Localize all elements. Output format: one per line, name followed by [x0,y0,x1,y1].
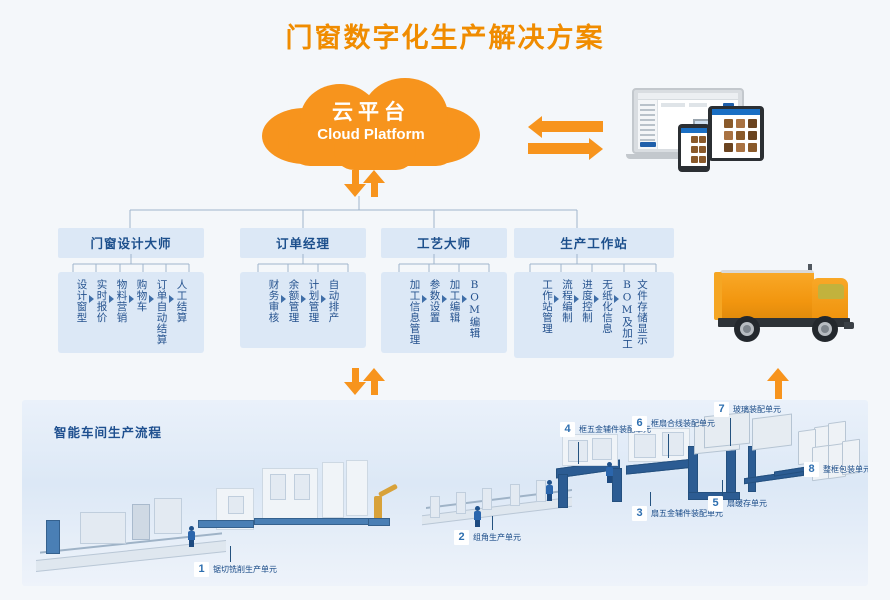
truck-cargo-box [720,270,814,320]
robot-base [368,518,390,526]
worker-figure [474,506,481,526]
truck-bumper [844,322,854,329]
truck-window [818,284,844,299]
module-item[interactable]: 人工结算 [174,279,189,323]
module-branch-connectors [240,254,366,274]
worker-figure [606,462,613,482]
label-leader-line [730,418,731,446]
unit-number: 4 [560,422,575,437]
factory-title: 智能车间生产流程 [54,422,162,441]
unit-text: 组角生产单元 [473,532,521,543]
tablet-device[interactable] [708,106,764,161]
smart-workshop-panel: 智能车间生产流程 [22,400,868,586]
unit-text: 整框包装单元 [823,464,868,475]
label-leader-line [722,480,723,496]
milling-door [270,474,286,500]
laptop-action-button [640,142,656,147]
module-item[interactable]: 实时报价 [94,279,109,323]
arrow-up-icon [363,368,385,381]
phone-device[interactable] [678,124,710,172]
unit-label-5[interactable]: 5 扇缓存单元 [708,496,767,511]
module-branch-connectors [381,254,507,274]
delivery-truck [712,258,860,354]
module-item[interactable]: 订单自动结算 [154,279,169,345]
conveyor-line [422,497,572,525]
bidirectional-arrows-devices [528,112,618,160]
module-item[interactable]: 加工信息管理 [407,279,422,345]
unit-number: 1 [194,562,209,577]
unit-label-7[interactable]: 7 玻璃装配单元 [714,402,781,417]
saw-machine [46,520,60,554]
unit-text: 锯切铣削生产单元 [213,564,277,575]
devices-cluster[interactable] [632,88,780,164]
profile-rack [322,462,344,518]
profile-rack [346,460,368,516]
robot-arm-upper [378,484,398,498]
arrow-left-shaft [541,121,603,132]
assembly-post [558,474,568,508]
tablet-appbar [712,109,760,115]
module-process-master[interactable]: 工艺大师 加工信息管理 参数设置 加工编辑 BOM编辑 [381,228,507,258]
unit-text: 扇缓存单元 [727,498,767,509]
label-leader-line [230,546,231,562]
truck-tire [734,316,760,342]
module-item[interactable]: 加工编辑 [447,279,462,323]
corner-crimper [482,488,492,510]
module-order-manager[interactable]: 订单经理 财务审核 余额管理 计划管理 自动排产 [240,228,366,258]
cloud-platform-text: 云平台 Cloud Platform [262,98,480,145]
truck-rear-door [714,272,722,320]
hardware-bin [592,438,612,460]
module-item[interactable]: 参数设置 [427,279,442,323]
page-title: 门窗数字化生产解决方案 [0,16,890,55]
label-leader-line [650,492,651,506]
module-item[interactable]: 流程编制 [559,279,574,323]
profile-stack [132,504,150,540]
cnc-panel [228,496,244,514]
unit-number: 8 [804,462,819,477]
label-leader-line [492,516,493,530]
unit-label-1[interactable]: 1 锯切铣削生产单元 [194,562,277,577]
label-leader-line [668,434,669,458]
phone-appbar [681,128,707,133]
unit-number: 2 [454,530,469,545]
corner-crimper [536,480,546,502]
unit-label-8[interactable]: 8 整框包装单元 [804,462,868,477]
module-items: 财务审核 余额管理 计划管理 自动排产 [240,272,366,348]
worker-figure [546,480,553,500]
glass-station-post [748,446,756,492]
module-item[interactable]: 自动排产 [326,279,341,323]
label-leader-line [578,442,579,464]
transfer-unit [154,498,182,534]
unit-text: 框扇合线装配单元 [651,418,715,429]
laptop-sidebar [638,100,658,149]
unit-number: 5 [708,496,723,511]
corner-crimper [430,496,440,518]
cloud-title-en: Cloud Platform [262,125,480,145]
module-items: 设计窗型 实时报价 物料营销 购物车 订单自动结算 人工结算 [58,272,204,353]
truck-tire [812,316,838,342]
frame-bin [662,432,684,456]
module-design-master[interactable]: 门窗设计大师 设计窗型 实时报价 物料营销 [58,228,204,258]
module-item[interactable]: 计划管理 [306,279,321,323]
module-items: 加工信息管理 参数设置 加工编辑 BOM编辑 [381,272,507,353]
arrow-up-icon [363,170,385,183]
module-item-file-storage[interactable]: 文件存储显示 [634,279,649,345]
unit-text: 玻璃装配单元 [733,404,781,415]
module-branch-connectors [514,254,674,274]
module-item[interactable]: 财务审核 [266,279,281,323]
solution-diagram: 门窗数字化生产解决方案 云平台 Cloud Platform [0,0,890,600]
unit-number: 7 [714,402,729,417]
module-branch-connectors [58,254,204,274]
module-item[interactable]: 物料营销 [114,279,129,323]
module-item[interactable]: 设计窗型 [74,279,89,323]
robot-arm [374,496,382,520]
module-item[interactable]: 无纸化信息 [599,279,614,334]
arrow-right-icon [589,138,603,160]
module-item[interactable]: BOM编辑 [467,279,482,339]
module-item[interactable]: 购物车 [134,279,149,312]
cloud-title-cn: 云平台 [262,98,480,125]
module-item[interactable]: 余额管理 [286,279,301,323]
module-item-bom[interactable]: BOM及加工 [619,279,634,350]
unit-number: 6 [632,416,647,431]
milling-door [294,474,310,500]
corner-crimper [456,492,466,514]
arrow-down-icon [344,382,366,395]
phone-screen [681,128,707,166]
module-item[interactable]: 工作站管理 [539,279,554,334]
tablet-screen [712,109,760,158]
corner-crimper [510,484,520,506]
arrow-left-icon [528,116,542,138]
unit-label-6[interactable]: 6 框扇合线装配单元 [632,416,715,431]
unit-label-2[interactable]: 2 组角生产单元 [454,530,521,545]
module-items: 工作站管理 流程编制 进度控制 无纸化信息 BOM及加工 文件存储显示 [514,272,674,358]
assembly-post [612,468,622,502]
frame-bin [634,434,656,458]
machine-base-rail [254,518,380,525]
module-production-workstation[interactable]: 生产工作站 工作站管理 流程编制 进度控制 无纸化 [514,228,674,258]
laptop-topbar [638,93,738,100]
module-item[interactable]: 进度控制 [579,279,594,323]
unit-number: 3 [632,506,647,521]
feed-unit [80,512,126,544]
cnc-base [198,520,254,528]
glass-panel [752,414,792,451]
worker-figure [188,526,195,546]
cloud-platform-node[interactable]: 云平台 Cloud Platform [262,78,480,168]
arrow-right-shaft [528,143,590,154]
arrow-up-icon [767,368,789,381]
